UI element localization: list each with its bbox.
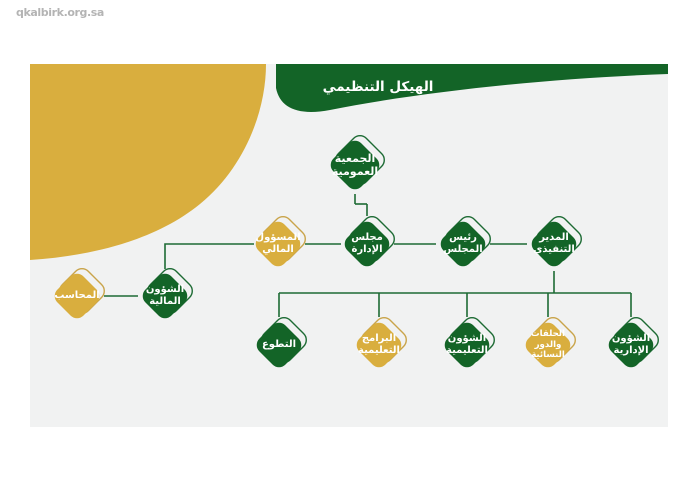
chart-title: الهيكل التنظيمي <box>288 79 468 95</box>
node-womens-circles[interactable] <box>522 314 579 371</box>
node-general-assembly[interactable] <box>327 132 388 193</box>
node-financial-affairs[interactable] <box>139 265 196 322</box>
node-financial-officer[interactable] <box>252 213 309 270</box>
node-administrative-affairs[interactable] <box>605 314 662 371</box>
site-watermark: qkalbirk.org.sa <box>16 6 104 19</box>
node-accountant[interactable] <box>51 265 108 322</box>
org-chart-slide: الهيكل التنظيمي الجمعية العموميةالمسؤول … <box>30 64 668 427</box>
node-board-chairman[interactable] <box>437 213 494 270</box>
node-volunteering[interactable] <box>253 314 310 371</box>
edge-financialofficer-financialaffairs <box>165 244 254 269</box>
node-board-of-directors[interactable] <box>341 213 398 270</box>
org-chart-canvas <box>30 64 668 427</box>
node-executive-director[interactable] <box>528 213 585 270</box>
node-shape-general-assembly[interactable] <box>327 137 383 193</box>
node-educational-affairs[interactable] <box>441 314 498 371</box>
gold-decor-shape <box>30 64 266 260</box>
node-educational-programs[interactable] <box>353 314 410 371</box>
